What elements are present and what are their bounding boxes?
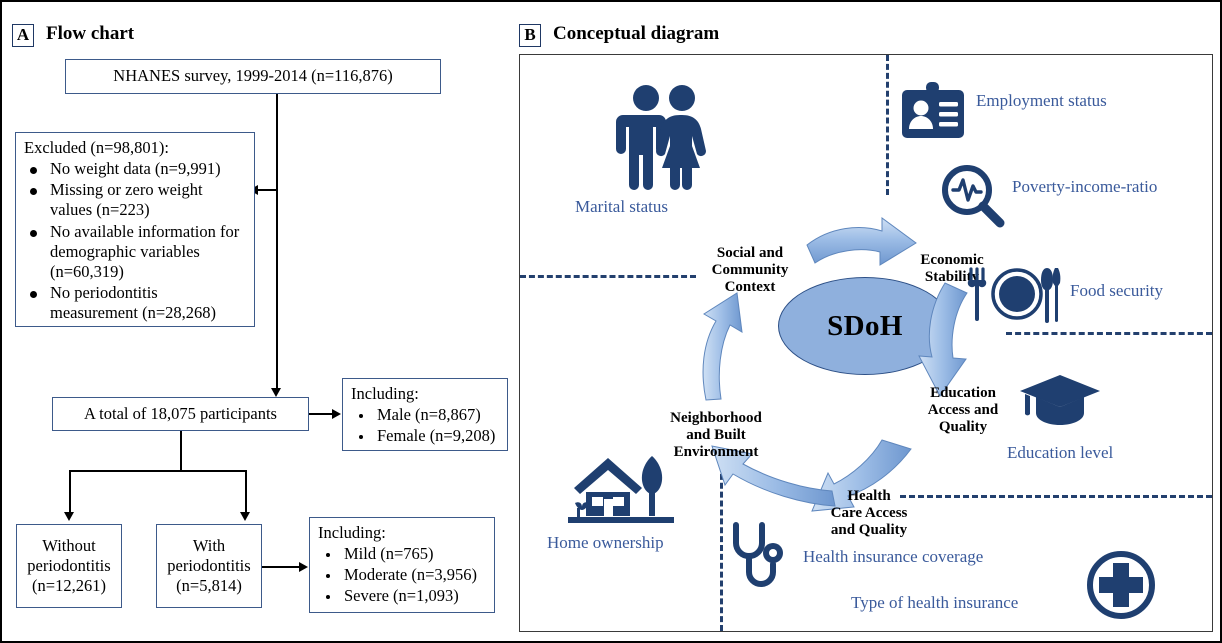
magnifier-pulse-icon <box>940 163 1006 229</box>
without-line-2: periodontitis <box>27 556 110 576</box>
variable-label-poverty: Poverty-income-ratio <box>1012 177 1157 197</box>
domain-label-social: Social and Community Context <box>685 245 815 295</box>
arrow-to-without <box>64 512 74 521</box>
variable-label-insurance-type: Type of health insurance <box>851 593 1018 613</box>
flow-box-excluded: Excluded (n=98,801): No weight data (n=9… <box>15 132 255 327</box>
flow-box-total: A total of 18,075 participants <box>52 397 309 431</box>
connector-trunk <box>276 94 278 393</box>
flow-box-with-periodontitis: With periodontitis (n=5,814) <box>156 524 262 608</box>
without-line-3: (n=12,261) <box>32 576 106 596</box>
couple-icon <box>616 83 712 191</box>
excluded-heading: Excluded (n=98,801): <box>24 138 248 158</box>
connector-sex <box>309 413 333 415</box>
domain-label-education: Education Access and Quality <box>908 385 1018 435</box>
list-item: No weight data (n=9,991) <box>24 159 248 179</box>
stethoscope-icon <box>728 521 794 595</box>
connector-left-drop <box>69 470 71 516</box>
panel-a-title: Flow chart <box>46 23 134 45</box>
medical-cross-icon <box>1085 549 1157 621</box>
with-line-1: With <box>193 536 225 556</box>
sex-heading: Including: <box>351 384 501 404</box>
variable-label-employment: Employment status <box>976 91 1107 111</box>
house-tree-icon <box>568 450 674 528</box>
list-item: Female (n=9,208) <box>351 426 501 446</box>
list-item: Missing or zero weight values (n=223) <box>24 180 248 220</box>
conceptual-diagram-panel: SDoH <box>519 54 1213 632</box>
arrow-neighborhood-to-social <box>703 293 742 400</box>
connector-split-stem <box>180 431 182 471</box>
panel-a-letter: A <box>12 24 34 47</box>
flow-box-without-periodontitis: Without periodontitis (n=12,261) <box>16 524 122 608</box>
excluded-list: No weight data (n=9,991) Missing or zero… <box>24 159 248 323</box>
panel-b-letter: B <box>519 24 541 47</box>
list-item: Male (n=8,867) <box>351 405 501 425</box>
connector-split-bar <box>69 470 246 472</box>
with-line-3: (n=5,814) <box>176 576 242 596</box>
without-line-1: Without <box>42 536 95 556</box>
figure-frame: A Flow chart NHANES survey, 1999-2014 (n… <box>0 0 1222 643</box>
variable-label-food: Food security <box>1070 281 1163 301</box>
severity-list: Mild (n=765) Moderate (n=3,956) Severe (… <box>318 544 488 606</box>
variable-label-home: Home ownership <box>547 533 664 553</box>
arrow-economic-to-education <box>919 283 967 396</box>
domain-label-healthcare: Health Care Access and Quality <box>810 488 928 538</box>
connector-right-drop <box>245 470 247 516</box>
graduation-cap-icon <box>1018 373 1102 429</box>
id-badge-icon <box>902 82 964 142</box>
arrow-to-sex <box>332 409 341 419</box>
flow-box-source-text: NHANES survey, 1999-2014 (n=116,876) <box>66 60 440 93</box>
with-line-2: periodontitis <box>167 556 250 576</box>
panel-b-title: Conceptual diagram <box>553 23 719 45</box>
sex-list: Male (n=8,867) Female (n=9,208) <box>351 405 501 446</box>
connector-severity <box>262 566 300 568</box>
flow-box-total-text: A total of 18,075 participants <box>53 398 308 430</box>
flow-box-source: NHANES survey, 1999-2014 (n=116,876) <box>65 59 441 94</box>
variable-label-insurance: Health insurance coverage <box>803 547 983 567</box>
list-item: Mild (n=765) <box>318 544 488 564</box>
arrow-to-with <box>240 512 250 521</box>
list-item: Severe (n=1,093) <box>318 586 488 606</box>
arrow-to-total <box>271 388 281 397</box>
list-item: No available information for demographic… <box>24 222 248 282</box>
severity-heading: Including: <box>318 523 488 543</box>
list-item: Moderate (n=3,956) <box>318 565 488 585</box>
list-item: No periodontitis measurement (n=28,268) <box>24 283 248 323</box>
arrow-to-severity <box>299 562 308 572</box>
flow-box-sex: Including: Male (n=8,867) Female (n=9,20… <box>342 378 508 451</box>
variable-label-marital: Marital status <box>575 197 668 217</box>
flow-box-severity: Including: Mild (n=765) Moderate (n=3,95… <box>309 517 495 613</box>
variable-label-education: Education level <box>1007 443 1113 463</box>
plate-cutlery-icon <box>967 267 1061 323</box>
